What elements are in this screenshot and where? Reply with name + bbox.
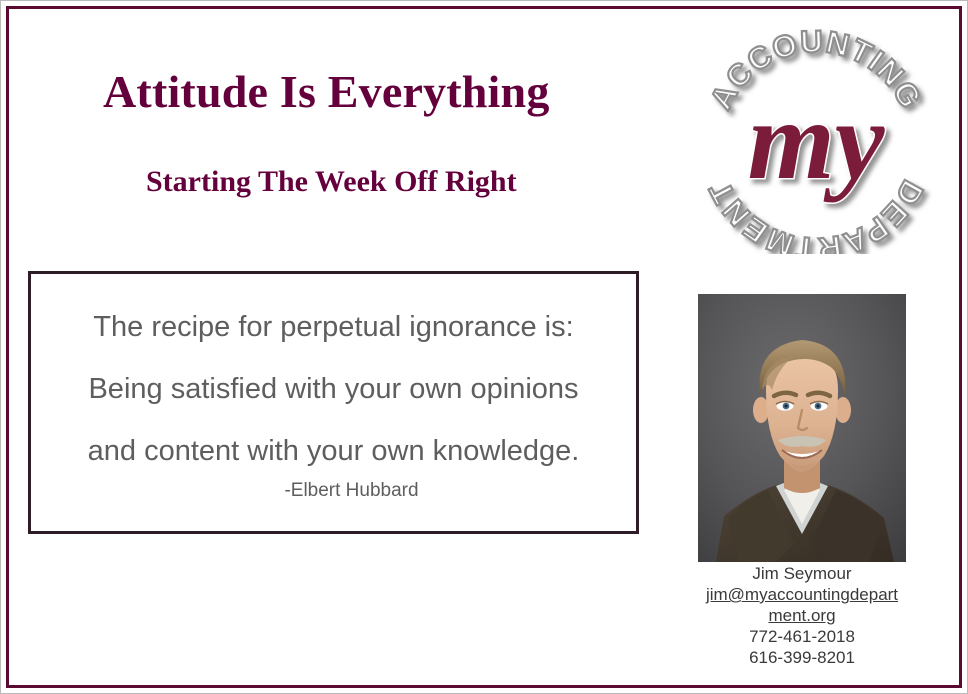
page-title: Attitude Is Everything (103, 68, 550, 116)
quote-line-2: Being satisfied with your own opinions (31, 358, 636, 420)
contact-name: Jim Seymour (676, 563, 928, 584)
quote-line-1: The recipe for perpetual ignorance is: (31, 296, 636, 358)
contact-email-link[interactable]: jim@myaccountingdepartment.org (702, 584, 902, 626)
logo-wordmark: my (748, 79, 886, 203)
contact-phone-primary: 772-461-2018 (676, 626, 928, 647)
page-subtitle: Starting The Week Off Right (146, 165, 517, 198)
quote-text: The recipe for perpetual ignorance is: B… (31, 296, 636, 482)
headshot-photo (698, 294, 906, 562)
contact-block: Jim Seymour jim@myaccountingdepartment.o… (676, 563, 928, 668)
my-accounting-department-logo: ACCOUNTING DEPARTMENT my (700, 22, 932, 254)
slide-page: Attitude Is Everything Starting The Week… (0, 0, 968, 694)
quote-attribution: -Elbert Hubbard (31, 480, 636, 502)
contact-phone-secondary: 616-399-8201 (676, 647, 928, 668)
contact-email-line-1: jim@myaccounting (706, 585, 850, 604)
quote-box: The recipe for perpetual ignorance is: B… (28, 271, 639, 534)
quote-line-3: and content with your own knowledge. (31, 420, 636, 482)
